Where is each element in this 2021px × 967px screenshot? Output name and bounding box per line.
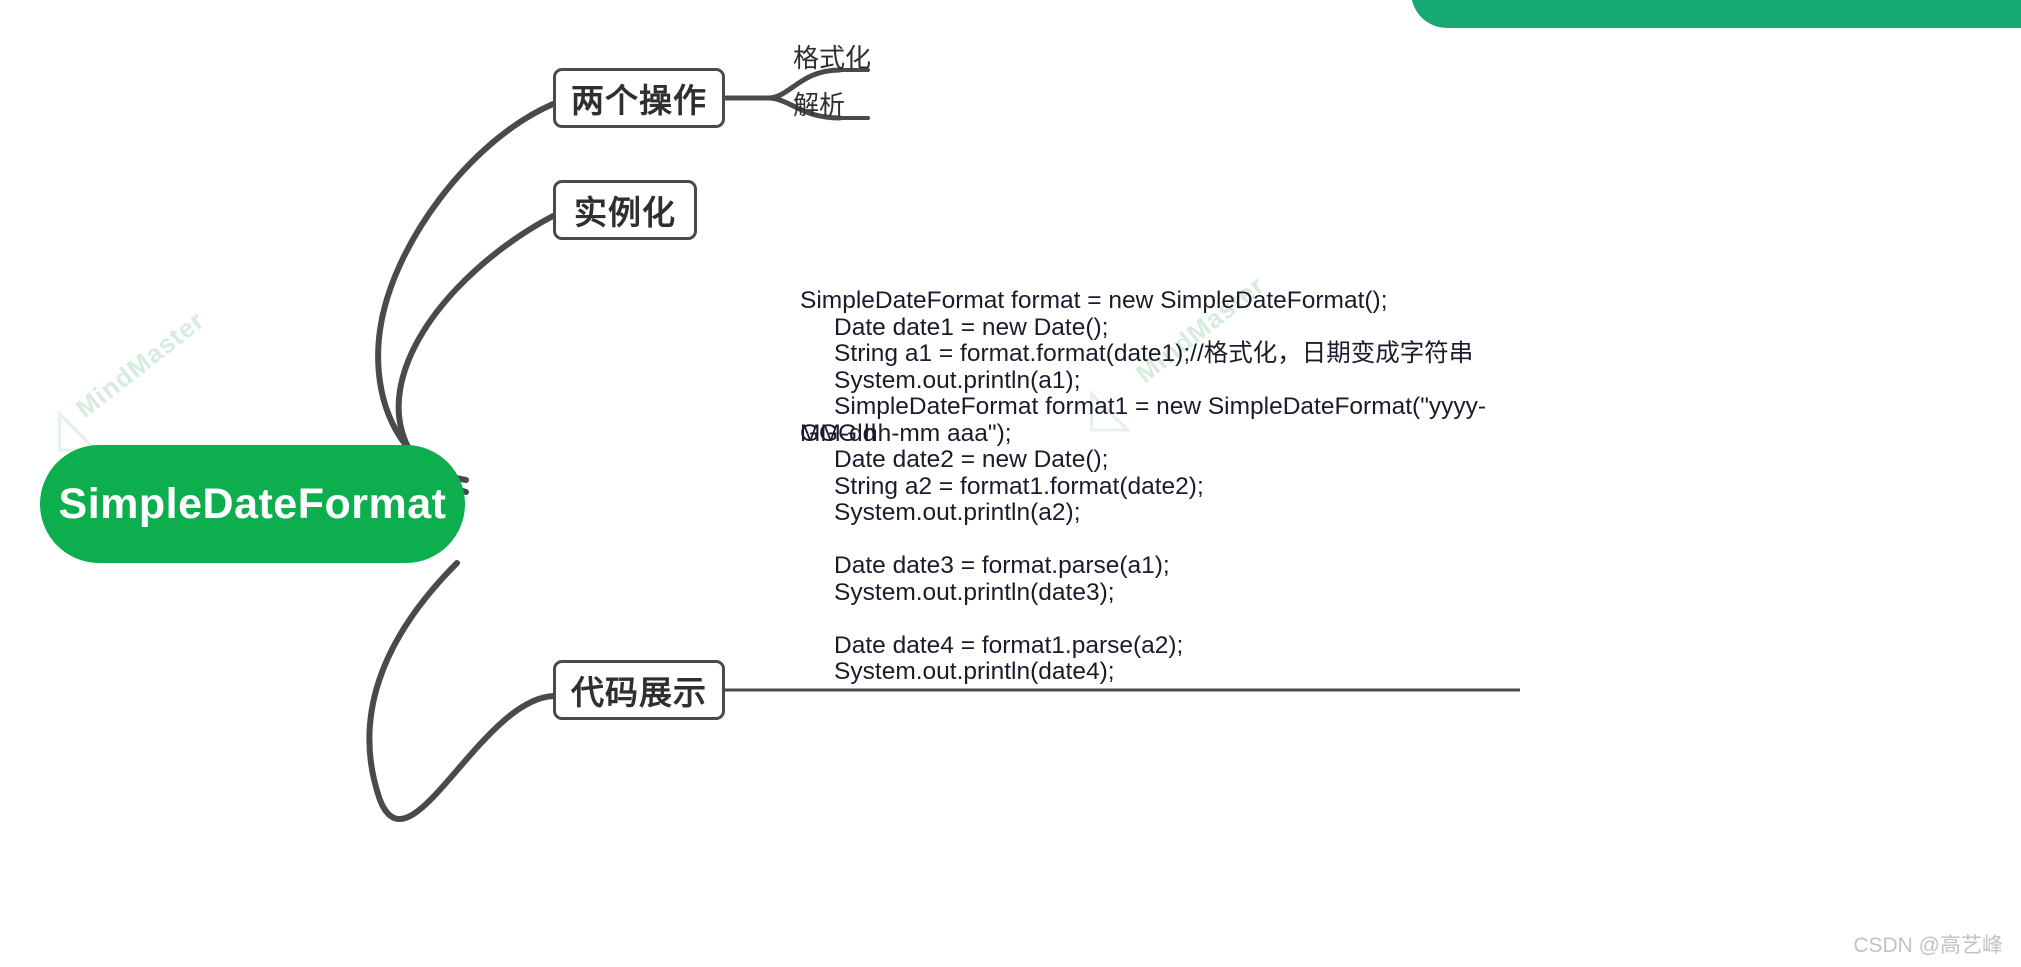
code-line: String a1 = format.format(date1);//格式化，日…	[800, 341, 1520, 368]
code-line: Date date2 = new Date();	[800, 447, 1520, 474]
code-line	[800, 606, 1520, 633]
code-line: SimpleDateFormat format1 = new SimpleDat…	[800, 394, 1520, 421]
code-line: System.out.println(a1);	[800, 368, 1520, 395]
code-line: System.out.println(date4);	[800, 659, 1520, 686]
branch-node-code-demo[interactable]: 代码展示	[553, 660, 725, 720]
code-line	[800, 527, 1520, 554]
connector-root-to-code-demo-hidden	[389, 560, 553, 783]
leaf-node-format[interactable]: 格式化	[793, 38, 871, 75]
code-line: Date date1 = new Date();	[800, 315, 1520, 342]
code-line: GGG hh-mm aaa");	[800, 421, 1520, 448]
connector-placeholder-2	[386, 563, 553, 804]
branch-node-two-ops-label: 两个操作	[571, 74, 707, 122]
mindmap-canvas: SimpleDateFormat 两个操作 格式化 解析 实例化 代码展示 Si…	[0, 0, 2021, 967]
root-node[interactable]: SimpleDateFormat	[40, 445, 465, 563]
csdn-attribution-watermark: CSDN @高艺峰	[1853, 929, 2003, 959]
code-line: Date date3 = format.parse(a1);	[800, 553, 1520, 580]
connector-root-to-code-demo	[369, 563, 553, 819]
code-line: Date date4 = format1.parse(a2);	[800, 633, 1520, 660]
branch-node-instantiate-label: 实例化	[574, 186, 676, 234]
code-line: System.out.println(a2);	[800, 500, 1520, 527]
branch-node-code-demo-label: 代码展示	[571, 666, 707, 714]
leaf-node-parse[interactable]: 解析	[793, 85, 845, 122]
code-line: System.out.println(date3);	[800, 580, 1520, 607]
branch-node-instantiate[interactable]: 实例化	[553, 180, 697, 240]
root-node-label: SimpleDateFormat	[59, 480, 447, 529]
code-line: SimpleDateFormat format = new SimpleDate…	[800, 288, 1520, 315]
code-line: String a2 = format1.format(date2);	[800, 474, 1520, 501]
code-snippet-text: SimpleDateFormat format = new SimpleDate…	[800, 288, 1520, 686]
connector-root-to-two-ops	[378, 104, 553, 480]
branch-node-two-ops[interactable]: 两个操作	[553, 68, 725, 128]
